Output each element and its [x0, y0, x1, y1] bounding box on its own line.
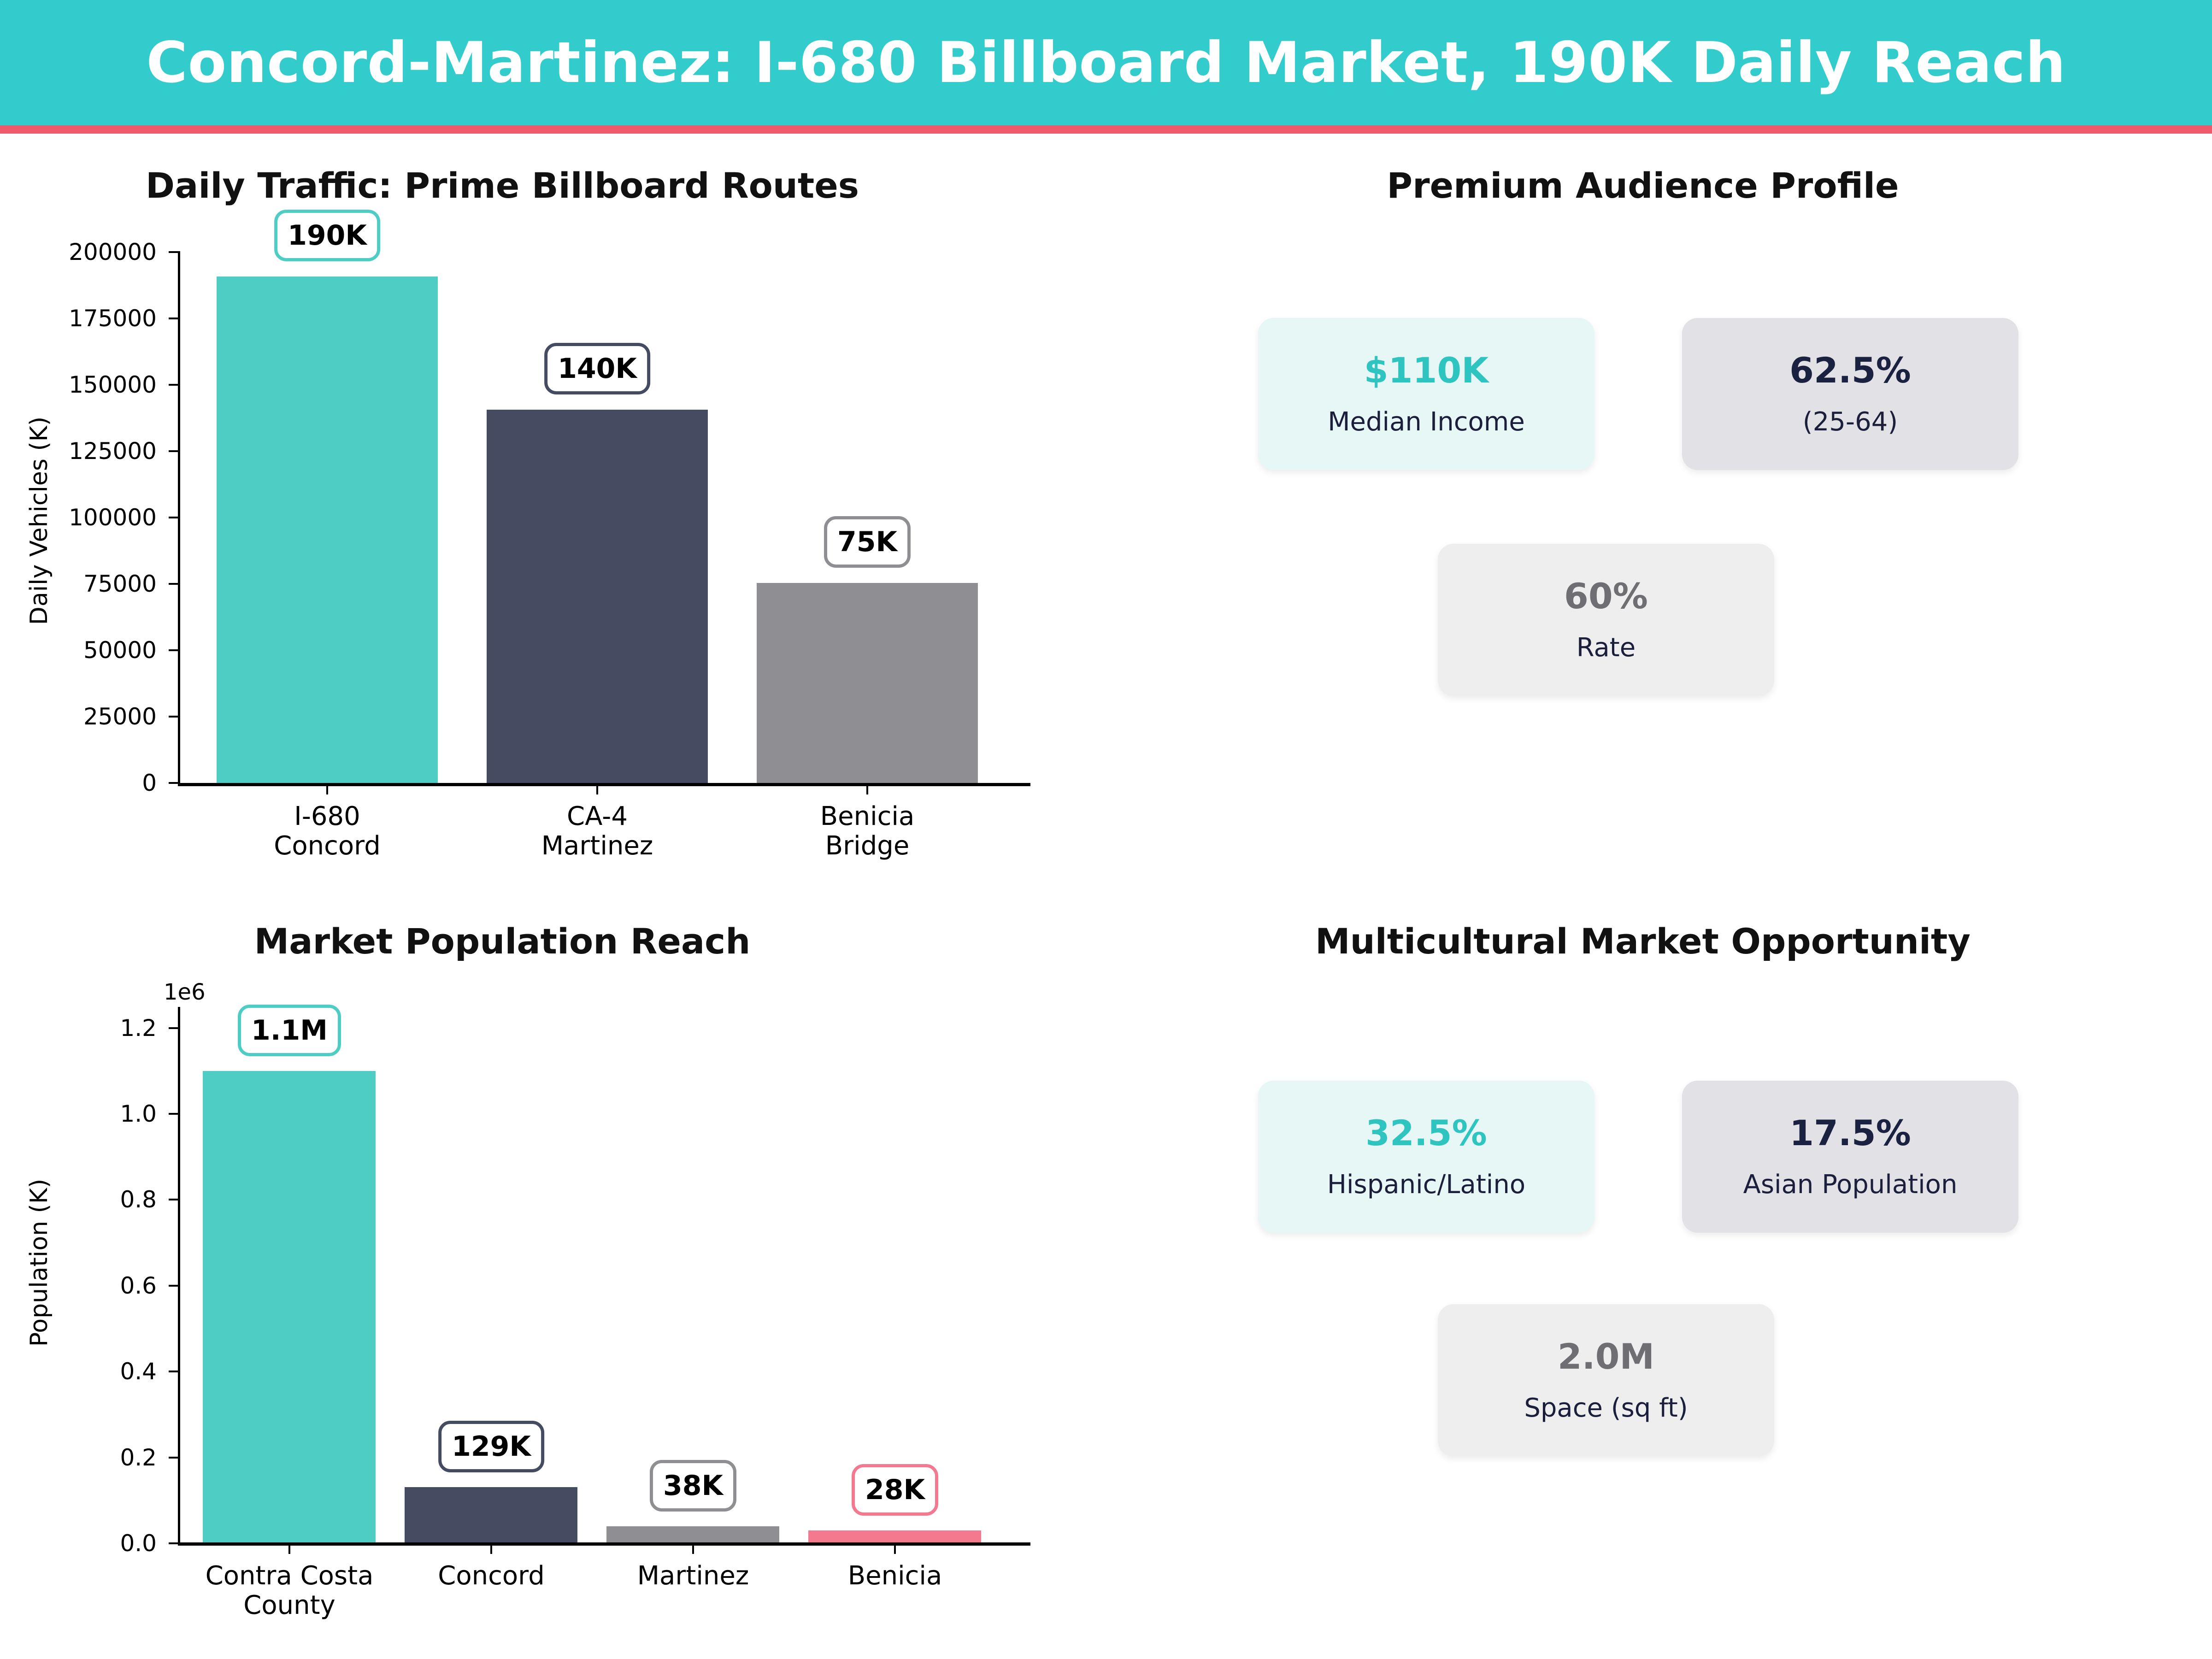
kpi-label: Asian Population	[1743, 1172, 1958, 1198]
kpi-card-space[interactable]: 2.0M Space (sq ft)	[1438, 1304, 1774, 1456]
y-tick-label: 1.2	[5, 1015, 157, 1041]
bar-annotation-contra-costa: 1.1M	[238, 1005, 341, 1056]
y-tick-label: 175000	[5, 305, 157, 332]
y-tick-label: 200000	[5, 239, 157, 265]
bar-benicia-bridge	[757, 583, 978, 783]
dashboard-header: Concord-Martinez: I-680 Billboard Market…	[0, 0, 2212, 125]
bar-i680-concord	[217, 276, 438, 783]
y-tick-label: 0.6	[5, 1272, 157, 1299]
kpi-value: 62.5%	[1789, 353, 1911, 388]
x-tick-label: CA-4 Martinez	[541, 802, 653, 861]
bar-benicia	[808, 1530, 981, 1542]
y-tick-label: 100000	[5, 504, 157, 531]
panel-daily-traffic: Daily Traffic: Prime Billboard Routes Da…	[0, 138, 1060, 876]
y-tick-label: 1.0	[5, 1100, 157, 1127]
kpi-card-asian-population[interactable]: 17.5% Asian Population	[1682, 1081, 2018, 1233]
kpi-value: 60%	[1564, 579, 1648, 614]
x-tick-label: Benicia	[848, 1561, 942, 1591]
bar-annotation-benicia: 28K	[852, 1464, 938, 1516]
kpi-card-median-income[interactable]: $110K Median Income	[1258, 318, 1594, 470]
bar-annotation-concord: 129K	[438, 1421, 544, 1472]
kpi-label: (25-64)	[1803, 409, 1898, 435]
kpi-card-hispanic-latino[interactable]: 32.5% Hispanic/Latino	[1258, 1081, 1594, 1233]
y-axis-offset-text: 1e6	[164, 979, 206, 1005]
kpi-value: 17.5%	[1789, 1116, 1911, 1151]
page-title: Concord-Martinez: I-680 Billboard Market…	[146, 30, 2065, 95]
y-tick-label: 75000	[5, 571, 157, 597]
kpi-value: 32.5%	[1365, 1116, 1487, 1151]
y-axis-population	[178, 1007, 180, 1544]
x-tick-label: I-680 Concord	[274, 802, 381, 861]
bar-martinez	[606, 1526, 779, 1542]
kpi-label: Hispanic/Latino	[1327, 1172, 1525, 1198]
panel-audience-profile: Premium Audience Profile $110K Median In…	[1106, 138, 2212, 876]
y-tick-label: 0	[5, 770, 157, 796]
y-tick-label: 0.2	[5, 1444, 157, 1471]
x-tick-label: Contra Costa County	[206, 1561, 374, 1621]
kpi-label: Median Income	[1328, 409, 1525, 435]
y-axis-traffic	[178, 251, 180, 784]
y-tick-label: 0.0	[5, 1530, 157, 1557]
kpi-value: $110K	[1364, 353, 1488, 388]
bar-contra-costa-county	[203, 1071, 376, 1542]
y-tick-label: 0.4	[5, 1358, 157, 1385]
x-tick-label: Benicia Bridge	[820, 802, 915, 861]
y-axis-label-population: Population (K)	[25, 1143, 53, 1382]
bar-ca4-martinez	[487, 410, 708, 783]
bar-annotation-benicia: 75K	[824, 516, 911, 568]
kpi-card-rate[interactable]: 60% Rate	[1438, 544, 1774, 696]
kpi-card-age-share[interactable]: 62.5% (25-64)	[1682, 318, 2018, 470]
dashboard-page: Concord-Martinez: I-680 Billboard Market…	[0, 0, 2212, 1659]
y-tick-label: 50000	[5, 637, 157, 664]
x-axis-population	[178, 1542, 1030, 1546]
panel-title-audience: Premium Audience Profile	[1106, 165, 2180, 206]
y-tick-label: 25000	[5, 703, 157, 730]
y-tick-label: 0.8	[5, 1186, 157, 1213]
kpi-label: Rate	[1577, 635, 1635, 661]
header-accent-rule	[0, 125, 2212, 134]
plot-daily-traffic: Daily Vehicles (K) 200000 175000 150000 …	[0, 138, 1060, 876]
x-tick-label: Martinez	[637, 1561, 749, 1591]
y-tick-label: 150000	[5, 371, 157, 398]
bar-annotation-martinez: 38K	[650, 1460, 736, 1512]
x-axis-traffic	[178, 783, 1030, 786]
y-tick-label: 125000	[5, 438, 157, 465]
kpi-label: Space (sq ft)	[1524, 1395, 1688, 1421]
panel-population-reach: Market Population Reach Population (K) 1…	[0, 894, 1060, 1659]
bar-concord	[405, 1487, 577, 1542]
kpi-value: 2.0M	[1558, 1339, 1654, 1374]
plot-population: Population (K) 1e6 1.2 1.0 0.8 0.6 0.4 0…	[0, 894, 1060, 1659]
panel-title-multicultural: Multicultural Market Opportunity	[1106, 921, 2180, 962]
x-tick-label: Concord	[438, 1561, 545, 1591]
bar-annotation-ca4: 140K	[544, 343, 650, 394]
panel-multicultural-opportunity: Multicultural Market Opportunity 32.5% H…	[1106, 894, 2212, 1659]
bar-annotation-i680: 190K	[274, 210, 380, 261]
